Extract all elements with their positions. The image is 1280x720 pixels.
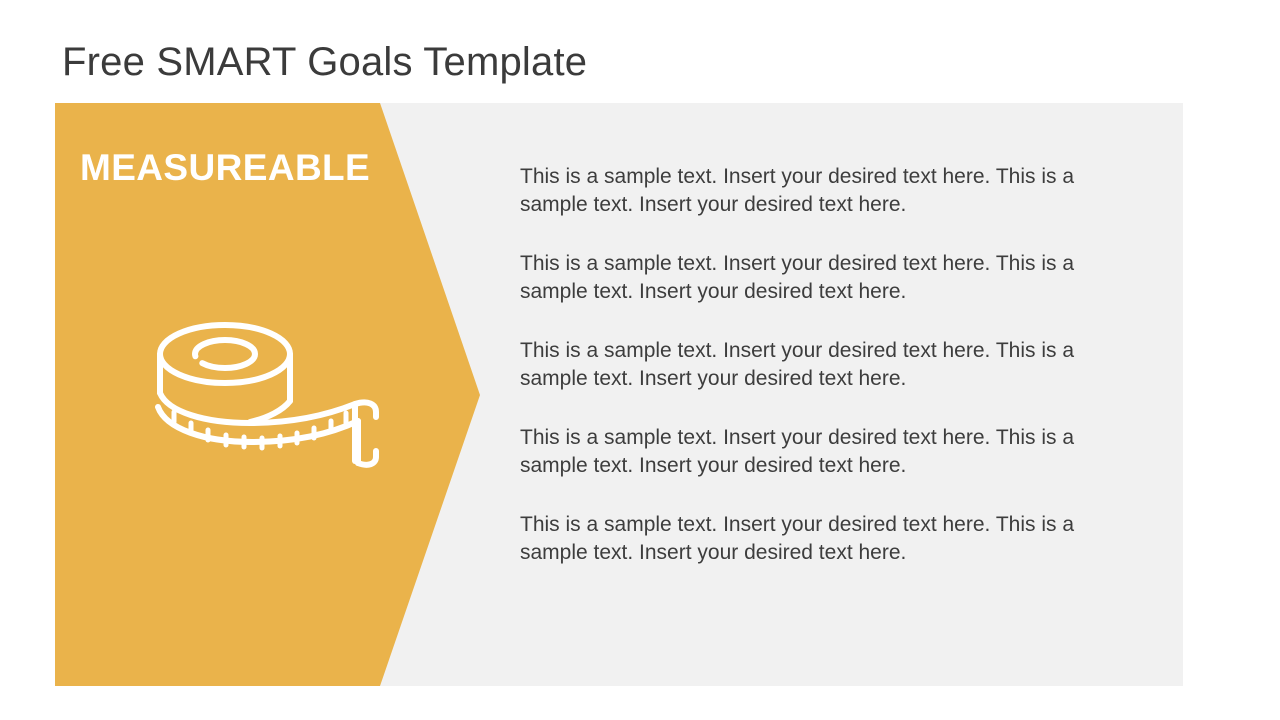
body-paragraph: This is a sample text. Insert your desir…	[520, 511, 1145, 567]
body-paragraph: This is a sample text. Insert your desir…	[520, 337, 1145, 393]
tape-roll-top-ellipse	[160, 325, 290, 383]
content-band: MEASUREABLE	[55, 103, 1183, 686]
body-paragraph: This is a sample text. Insert your desir…	[520, 424, 1145, 480]
category-label: MEASUREABLE	[80, 147, 370, 189]
body-paragraph: This is a sample text. Insert your desir…	[520, 163, 1145, 219]
body-paragraph: This is a sample text. Insert your desir…	[520, 250, 1145, 306]
tape-roll-hub-ellipse	[195, 340, 255, 368]
measuring-tape-icon	[150, 311, 380, 476]
tape-end-hook-top	[355, 402, 376, 417]
slide-canvas: Free SMART Goals Template MEASUREABLE	[0, 0, 1280, 720]
body-copy-block: This is a sample text. Insert your desir…	[520, 163, 1145, 567]
page-title: Free SMART Goals Template	[62, 40, 587, 84]
